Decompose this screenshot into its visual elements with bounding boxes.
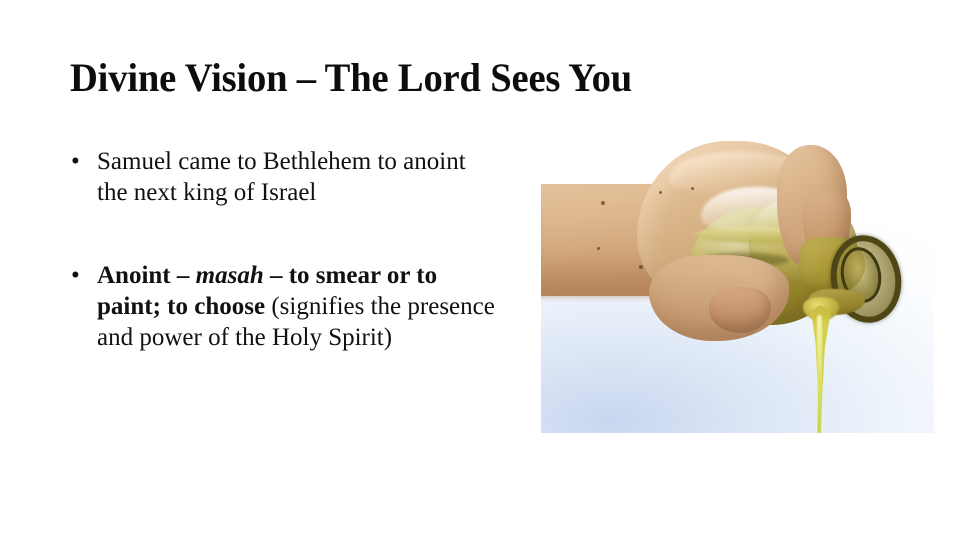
skin-mole xyxy=(639,265,643,269)
text-run: Anoint – xyxy=(97,262,196,289)
bullet-marker-icon: • xyxy=(71,260,80,291)
skin-mole xyxy=(691,187,694,190)
text-run-emphasis: masah xyxy=(196,262,264,289)
photo-content xyxy=(541,129,934,433)
skin-mole xyxy=(659,191,662,194)
list-item-text: Samuel came to Bethlehem to anoint the n… xyxy=(97,146,500,208)
oil-stream-highlight xyxy=(817,315,822,433)
bullet-marker-icon: • xyxy=(71,146,80,177)
list-item: • Samuel came to Bethlehem to anoint the… xyxy=(70,146,500,208)
hand-pouring-olive-oil-photo xyxy=(541,129,934,433)
page-title: Divine Vision – The Lord Sees You xyxy=(70,55,881,101)
slide: Divine Vision – The Lord Sees You • Samu… xyxy=(0,0,980,553)
skin-mole xyxy=(601,201,605,205)
skin-mole xyxy=(597,247,600,250)
list-item: • Anoint – masah – to smear or to paint;… xyxy=(70,260,500,353)
bullet-list: • Samuel came to Bethlehem to anoint the… xyxy=(70,146,500,353)
list-item-text: Anoint – masah – to smear or to paint; t… xyxy=(97,260,500,353)
text-run: Samuel came to Bethlehem to anoint the n… xyxy=(97,148,466,206)
